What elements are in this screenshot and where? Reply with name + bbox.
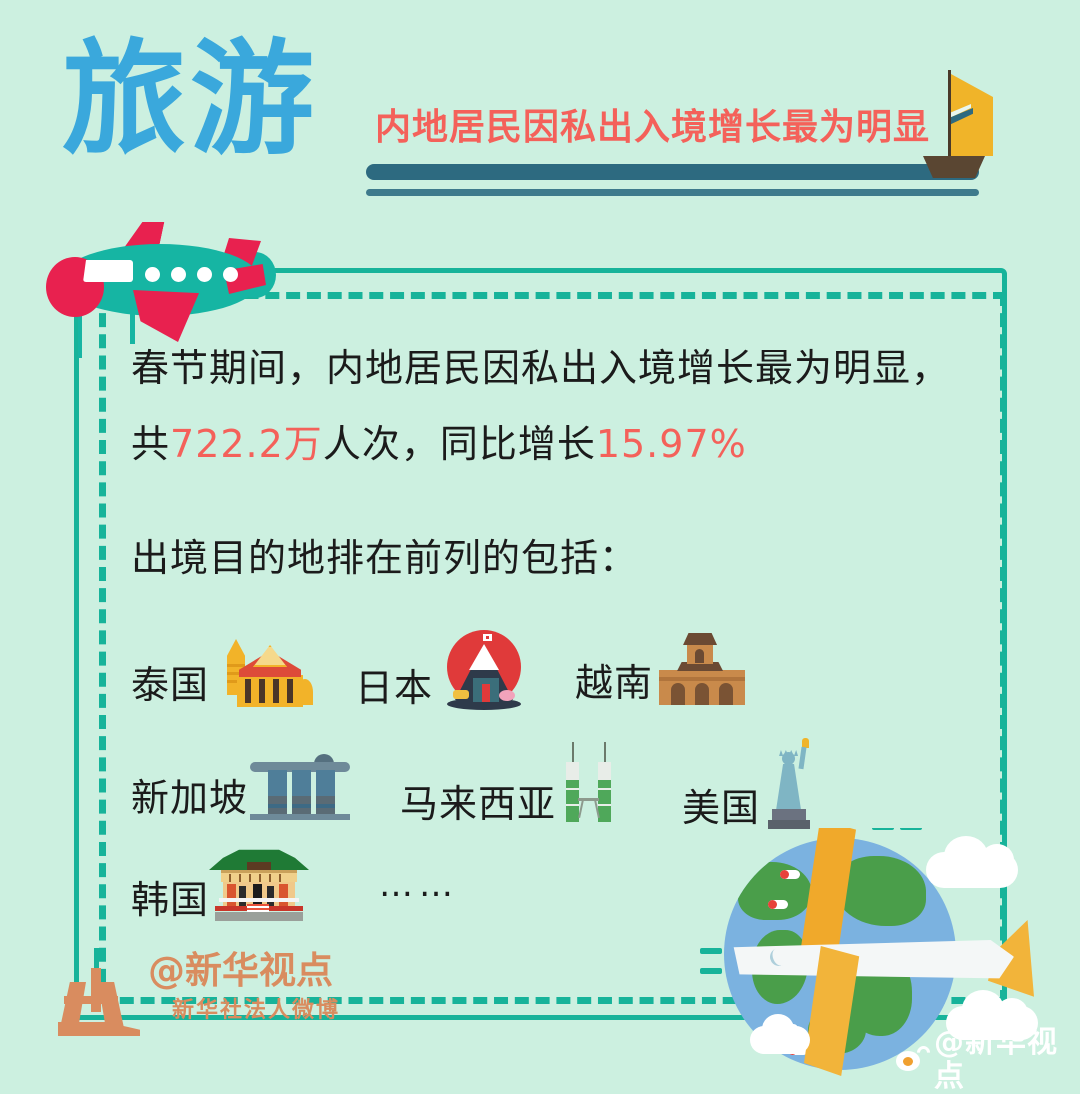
vietnam-tower-icon xyxy=(653,633,751,705)
japan-mount-fuji-icon xyxy=(433,628,535,710)
destinations-lead: 出境目的地排在前列的包括： xyxy=(131,536,638,580)
destination-label: 泰国 xyxy=(131,663,209,707)
header-rule-thick xyxy=(366,164,979,180)
highlight-volume: 722.2万 xyxy=(170,422,323,466)
header: 旅游 内地居民因私出入境增长最为明显 xyxy=(0,0,1080,215)
list-item: 美国 xyxy=(682,738,822,830)
usa-statue-of-liberty-icon xyxy=(760,738,822,830)
singapore-marina-bay-sands-icon xyxy=(248,748,352,820)
destination-row-3: 韩国 …… xyxy=(131,848,459,922)
airplane-icon xyxy=(38,222,293,337)
destination-row-1: 泰国 日本 越南 xyxy=(131,628,751,710)
page-title: 旅游 xyxy=(62,38,318,162)
list-item: 马来西亚 xyxy=(400,742,620,826)
destination-label: 越南 xyxy=(575,661,653,705)
account-tagline: 新华社法人微博 xyxy=(172,998,340,1024)
destination-label: 美国 xyxy=(682,786,760,830)
page-subtitle: 内地居民因私出入境增长最为明显 xyxy=(375,108,930,148)
account-name: @新华视点 xyxy=(148,950,333,992)
monument-logo-icon xyxy=(58,948,140,1040)
destination-row-2: 新加坡 马来西亚 美国 xyxy=(131,738,822,830)
paragraph-prefix: 共 xyxy=(131,422,170,466)
list-item: 越南 xyxy=(575,633,751,705)
weibo-icon xyxy=(896,1046,928,1074)
infographic-canvas: 旅游 内地居民因私出入境增长最为明显 春节期间，内地居民因私出入境增长最 xyxy=(0,0,1080,1080)
paragraph-line-2: 共722.2万人次，同比增长15.97% xyxy=(131,406,961,482)
highlight-growth: 15.97% xyxy=(596,422,747,466)
korea-palace-icon xyxy=(209,848,309,922)
main-text-block: 春节期间，内地居民因私出入境增长最为明显， 共722.2万人次，同比增长15.9… xyxy=(131,330,961,482)
paragraph-middle: 人次，同比增长 xyxy=(323,422,596,466)
list-item: 新加坡 xyxy=(131,748,352,820)
watermark-text: @新华视点 xyxy=(934,1026,1080,1094)
ellipsis-text: …… xyxy=(379,865,459,905)
destination-label: 新加坡 xyxy=(131,776,248,820)
weibo-watermark: @新华视点 xyxy=(896,1026,1080,1094)
list-item: 韩国 xyxy=(131,848,309,922)
paragraph-line-1: 春节期间，内地居民因私出入境增长最为明显， xyxy=(131,330,961,406)
destination-label: 马来西亚 xyxy=(400,782,556,826)
list-item: 日本 xyxy=(355,628,535,710)
thailand-grand-palace-icon xyxy=(209,631,317,707)
header-rule-thin xyxy=(366,189,979,196)
destination-label: 日本 xyxy=(355,666,433,710)
sailboat-icon xyxy=(905,60,995,170)
destination-label: 韩国 xyxy=(131,878,209,922)
malaysia-petronas-towers-icon xyxy=(556,742,620,826)
list-item: 泰国 xyxy=(131,631,317,707)
footer-logo: @新华视点 新华社法人微博 xyxy=(50,944,380,1044)
